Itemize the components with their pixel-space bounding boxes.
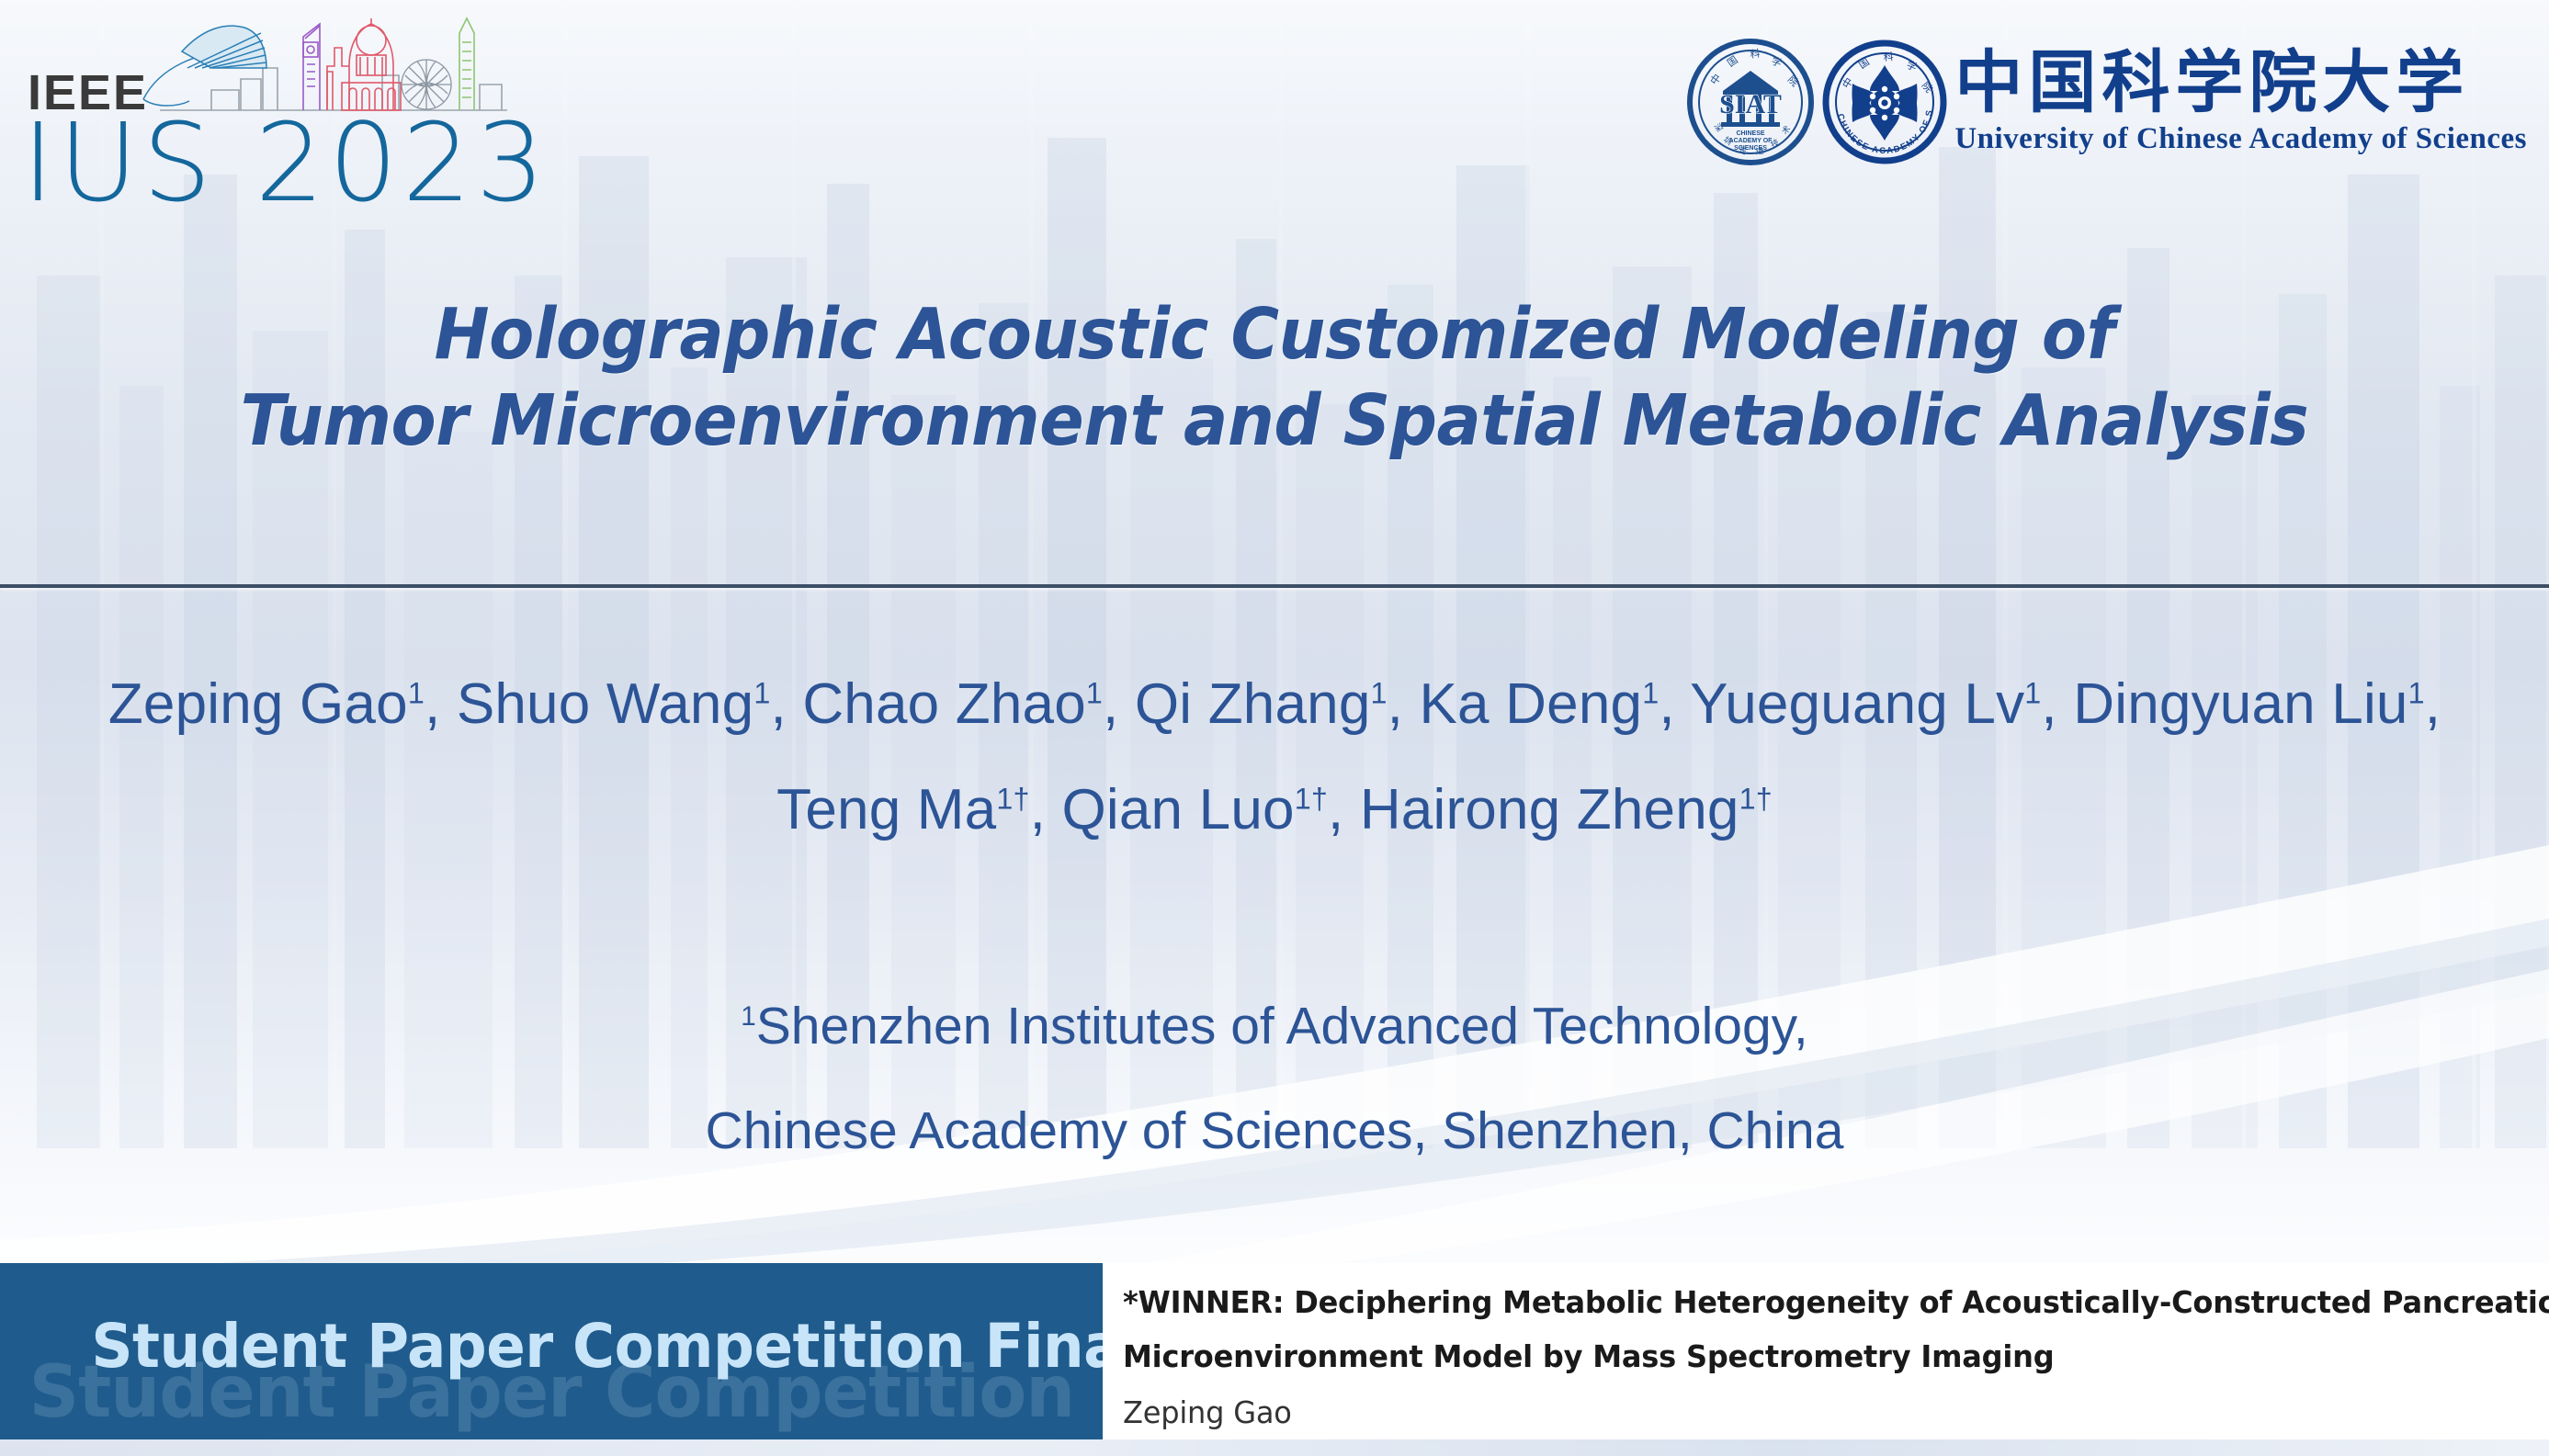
institution-logo-group: SIAT CHINESE ACADEMY OF SCIENCES 中 国 科 学… xyxy=(1686,33,2527,171)
winner-title-line-2: Microenvironment Model by Mass Spectrome… xyxy=(1123,1341,2506,1371)
author-affiliation-marker: 1 xyxy=(408,676,425,709)
svg-text:SIAT: SIAT xyxy=(1719,89,1782,119)
author-affiliation-marker: 1† xyxy=(1295,782,1328,815)
author-affiliation-marker: 1 xyxy=(2408,676,2425,709)
svg-text:中: 中 xyxy=(1708,72,1724,86)
svg-text:国: 国 xyxy=(1857,56,1872,72)
svg-text:学: 学 xyxy=(1905,58,1920,73)
student-paper-competition-banner: Student Paper Competition Student Paper … xyxy=(0,1263,1103,1439)
author-name: Teng Ma xyxy=(776,778,996,841)
ucas-wordmark: 中国科学院大学 University of Chinese Academy of… xyxy=(1954,49,2527,156)
ieee-ius-logo: IEEE IUS 2023 xyxy=(13,7,491,211)
svg-text:科: 科 xyxy=(1883,50,1894,63)
author-name: Dingyuan Liu xyxy=(2073,672,2407,736)
paper-title: Holographic Acoustic Customized Modeling… xyxy=(0,292,2549,465)
affiliation-block: 1Shenzhen Institutes of Advanced Technol… xyxy=(0,974,2549,1183)
bottom-strip: Student Paper Competition Student Paper … xyxy=(0,1263,2549,1456)
author-line-1: Zeping Gao1, Shuo Wang1, Chao Zhao1, Qi … xyxy=(0,652,2549,758)
winner-title-line-1: *WINNER: Deciphering Metabolic Heterogen… xyxy=(1123,1287,2506,1317)
author-name: Shuo Wang xyxy=(457,672,754,736)
author-name: Chao Zhao xyxy=(802,672,1086,736)
author-name: Qian Luo xyxy=(1061,778,1294,841)
slide-canvas: IEEE IUS 2023 SIAT CHINESE ACADEMY OF SC… xyxy=(0,0,2549,1456)
author-affiliation-marker: 1 xyxy=(2024,676,2041,709)
svg-text:进: 进 xyxy=(1755,146,1764,157)
author-affiliation-marker: 1 xyxy=(1642,676,1659,709)
svg-text:ACADEMY OF: ACADEMY OF xyxy=(1729,138,1773,144)
paper-title-line-2: Tumor Microenvironment and Spatial Metab… xyxy=(89,378,2460,465)
author-affiliation-marker: 1 xyxy=(1086,676,1103,709)
author-affiliation-marker: 1 xyxy=(1371,676,1388,709)
affiliation-line-2: Chinese Academy of Sciences, Shenzhen, C… xyxy=(0,1078,2549,1183)
ucas-english-name: University of Chinese Academy of Science… xyxy=(1954,122,2527,156)
author-affiliation-marker: 1† xyxy=(996,782,1029,815)
paper-title-line-1: Holographic Acoustic Customized Modeling… xyxy=(89,292,2460,378)
author-name: Yueguang Lv xyxy=(1690,672,2024,736)
svg-text:科: 科 xyxy=(1750,47,1762,61)
author-affiliation-marker: 1† xyxy=(1739,782,1773,815)
author-line-2: Teng Ma1†, Qian Luo1†, Hairong Zheng1† xyxy=(0,758,2549,863)
ucas-seal-icon: 中 国 科 学 院 CHINESE ACADEMY OF SCIENCES xyxy=(1820,38,1949,166)
siat-seal-icon: SIAT CHINESE ACADEMY OF SCIENCES 中 国 科 学… xyxy=(1686,38,1815,166)
svg-text:学: 学 xyxy=(1770,54,1784,70)
author-name: Hairong Zheng xyxy=(1360,778,1739,841)
author-name: Zeping Gao xyxy=(108,672,408,736)
footer-bar xyxy=(0,1439,2549,1456)
ucas-chinese-name: 中国科学院大学 xyxy=(1954,49,2527,117)
svg-text:CHINESE: CHINESE xyxy=(1737,130,1765,137)
winner-panel: *WINNER: Deciphering Metabolic Heterogen… xyxy=(1103,1263,2549,1439)
affiliation-line-1: 1Shenzhen Institutes of Advanced Technol… xyxy=(0,974,2549,1078)
winner-author: Zeping Gao xyxy=(1123,1397,2506,1428)
horizontal-divider xyxy=(0,584,2549,588)
author-affiliation-marker: 1 xyxy=(753,676,770,709)
banner-title-text: Student Paper Competition Finalists xyxy=(91,1311,1103,1382)
affiliation-marker: 1 xyxy=(741,1001,755,1032)
affiliation-line-1-text: Shenzhen Institutes of Advanced Technolo… xyxy=(756,997,1808,1055)
author-name: Ka Deng xyxy=(1420,672,1643,736)
author-name: Qi Zhang xyxy=(1135,672,1371,736)
ius-2023-wordmark: IUS 2023 xyxy=(22,99,549,226)
author-list: Zeping Gao1, Shuo Wang1, Chao Zhao1, Qi … xyxy=(0,652,2549,863)
